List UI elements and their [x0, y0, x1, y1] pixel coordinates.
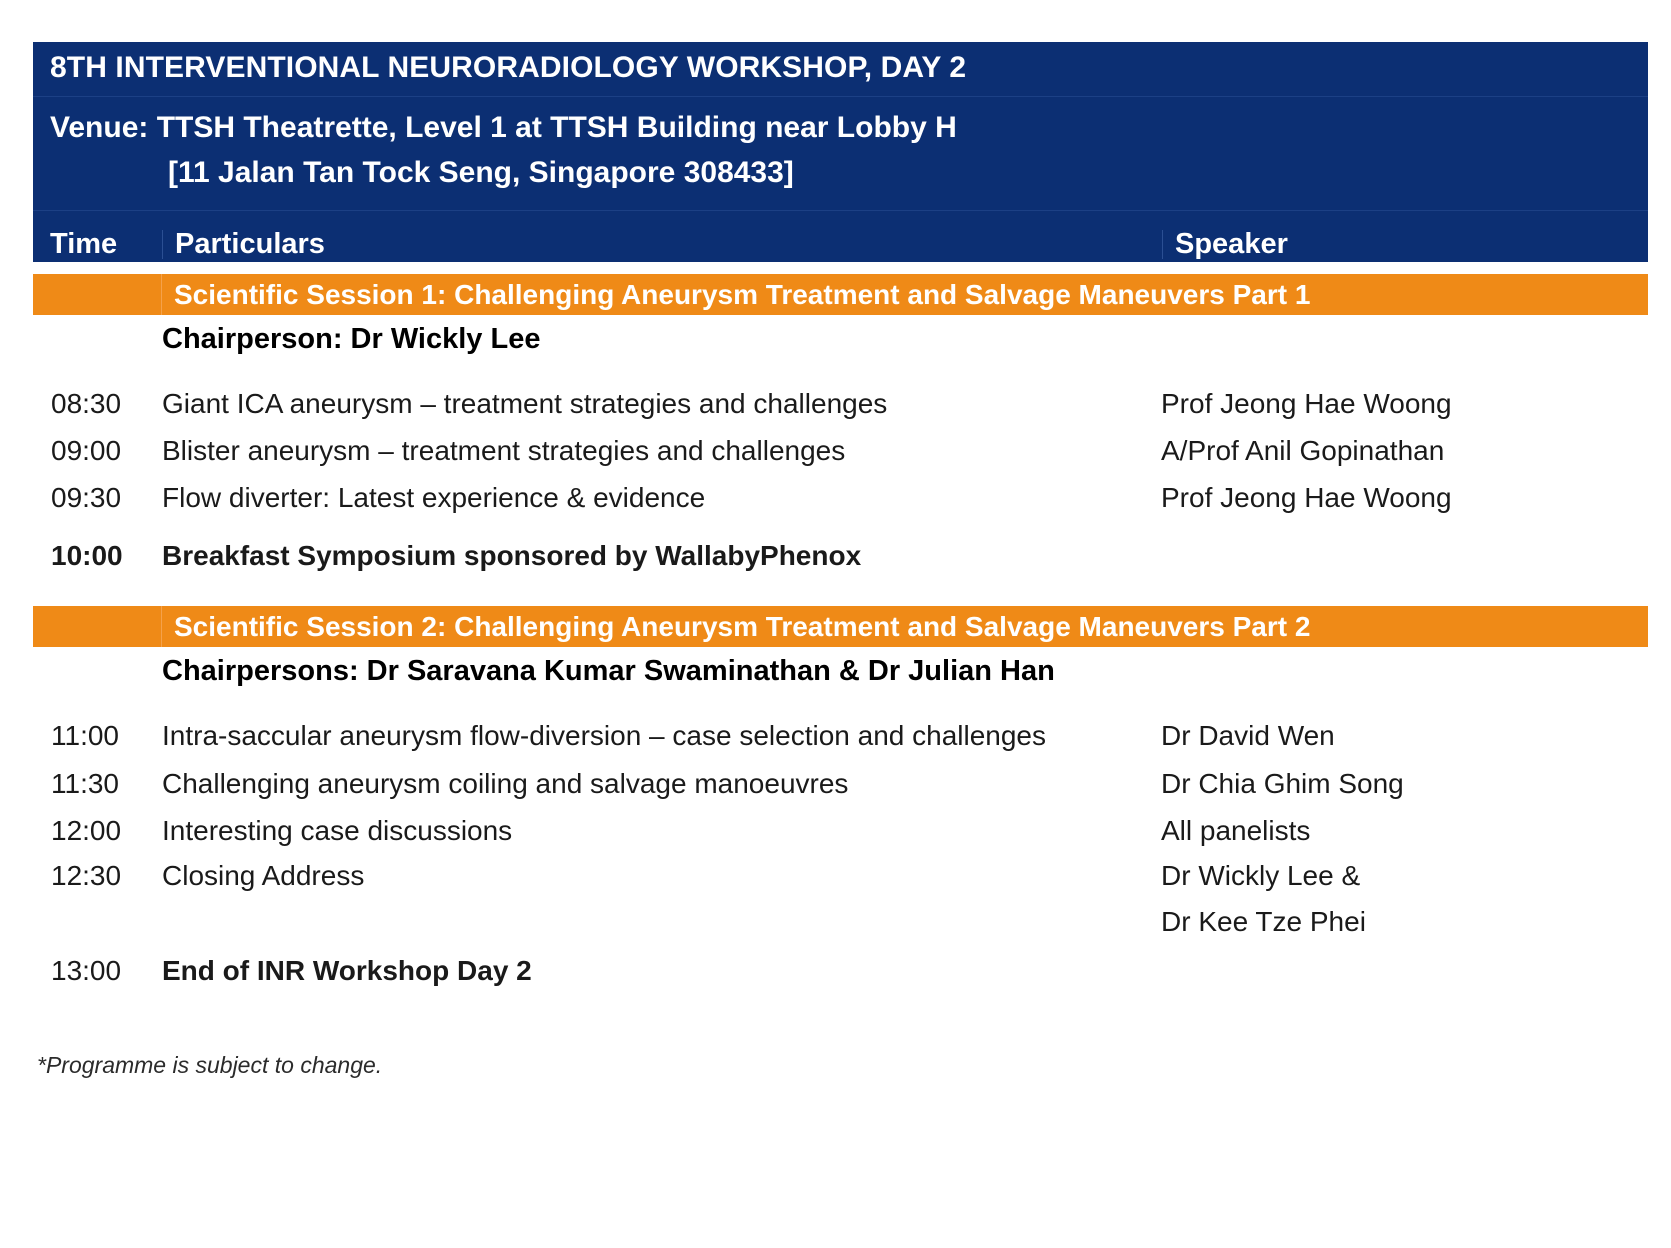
row-particulars: Breakfast Symposium sponsored by Wallaby… — [162, 542, 861, 570]
row-particulars: Giant ICA aneurysm – treatment strategie… — [162, 390, 887, 418]
row-particulars: Closing Address — [162, 862, 364, 890]
venue-line-primary: Venue: TTSH Theatrette, Level 1 at TTSH … — [50, 105, 1648, 151]
column-header-particulars: Particulars — [162, 230, 1162, 259]
column-header-speaker: Speaker — [1162, 230, 1648, 259]
row-time: 12:00 — [51, 817, 121, 845]
row-time: 09:00 — [51, 437, 121, 465]
session-1-chairperson: Chairperson: Dr Wickly Lee — [162, 325, 540, 354]
row-speaker: Prof Jeong Hae Woong — [1161, 484, 1452, 512]
programme-page: 8TH INTERVENTIONAL NEURORADIOLOGY WORKSH… — [0, 0, 1671, 1248]
page-title: 8TH INTERVENTIONAL NEURORADIOLOGY WORKSH… — [50, 51, 1648, 85]
row-particulars: Flow diverter: Latest experience & evide… — [162, 484, 705, 512]
header-block: 8TH INTERVENTIONAL NEURORADIOLOGY WORKSH… — [33, 42, 1648, 262]
row-particulars: Intra-saccular aneurysm flow-diversion –… — [162, 722, 1046, 750]
column-header-time: Time — [33, 230, 162, 259]
footnote-programme-subject-to-change: *Programme is subject to change. — [37, 1054, 382, 1077]
row-time: 12:30 — [51, 862, 121, 890]
row-time: 09:30 — [51, 484, 121, 512]
table-column-header-row: Time Particulars Speaker — [33, 211, 1648, 262]
header-title-row: 8TH INTERVENTIONAL NEURORADIOLOGY WORKSH… — [33, 42, 1648, 97]
row-speaker: Dr Wickly Lee & — [1161, 862, 1360, 890]
session-2-chairperson: Chairpersons: Dr Saravana Kumar Swaminat… — [162, 657, 1055, 686]
row-particulars: Interesting case discussions — [162, 817, 512, 845]
row-speaker: Dr Chia Ghim Song — [1161, 770, 1404, 798]
row-speaker: Prof Jeong Hae Woong — [1161, 390, 1452, 418]
row-speaker-continuation: Dr Kee Tze Phei — [1161, 908, 1366, 936]
session-bar-1-label: Scientific Session 1: Challenging Aneury… — [174, 281, 1310, 309]
row-particulars: End of INR Workshop Day 2 — [162, 957, 532, 985]
row-particulars: Blister aneurysm – treatment strategies … — [162, 437, 845, 465]
session-bar-2-time-spacer — [33, 606, 162, 647]
session-bar-1-time-spacer — [33, 274, 162, 315]
header-venue-row: Venue: TTSH Theatrette, Level 1 at TTSH … — [33, 97, 1648, 211]
row-speaker: Dr David Wen — [1161, 722, 1335, 750]
row-time: 13:00 — [51, 957, 121, 985]
session-bar-1: Scientific Session 1: Challenging Aneury… — [33, 274, 1648, 315]
session-bar-2: Scientific Session 2: Challenging Aneury… — [33, 606, 1648, 647]
row-speaker: All panelists — [1161, 817, 1310, 845]
session-bar-2-label: Scientific Session 2: Challenging Aneury… — [174, 613, 1310, 641]
row-time: 10:00 — [51, 542, 123, 570]
row-speaker: A/Prof Anil Gopinathan — [1161, 437, 1444, 465]
row-particulars: Challenging aneurysm coiling and salvage… — [162, 770, 848, 798]
venue-line-address: [11 Jalan Tan Tock Seng, Singapore 30843… — [50, 150, 1648, 196]
row-time: 08:30 — [51, 390, 121, 418]
row-time: 11:00 — [51, 722, 119, 750]
row-time: 11:30 — [51, 770, 119, 798]
